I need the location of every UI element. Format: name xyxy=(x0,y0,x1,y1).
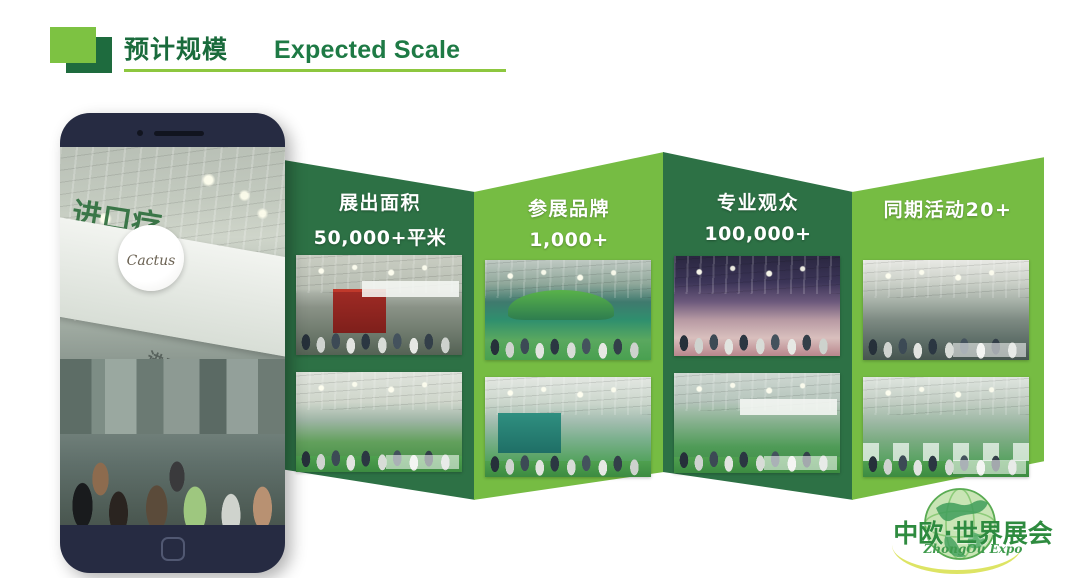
panel-professional-visitors: 专业观众 100,000+ xyxy=(663,100,853,530)
panel-exhibiting-brands: 参展品牌 1,000+ xyxy=(474,100,664,530)
panel-value: 50,000+平米 xyxy=(285,223,475,250)
panel-title: 参展品牌 xyxy=(474,194,664,221)
page-title-cn: 预计规模 xyxy=(124,30,228,66)
panel-photo xyxy=(296,372,462,472)
phone-sign-brand: Cactus xyxy=(118,253,184,269)
panel-heading: 参展品牌 1,000+ xyxy=(474,194,664,251)
smartphone-mockup: 进口疗 进口疗 康乐器 Cactus xyxy=(60,113,285,573)
panel-photo xyxy=(674,256,840,356)
panel-photo xyxy=(485,260,651,360)
panel-title: 展出面积 xyxy=(285,188,475,215)
panel-photo xyxy=(674,373,840,473)
logo-square-light xyxy=(50,27,96,63)
panel-exhibition-area: 展出面积 50,000+平米 xyxy=(285,100,475,530)
page-title-en: Expected Scale xyxy=(274,36,460,65)
panel-heading: 同期活动20+ xyxy=(852,195,1044,230)
front-camera-icon xyxy=(137,130,143,136)
title-underline xyxy=(124,69,506,72)
panel-photo xyxy=(296,255,462,355)
phone-sign-disc: Cactus xyxy=(118,225,184,291)
home-button-icon[interactable] xyxy=(161,537,185,561)
page-title: 预计规模 Expected Scale xyxy=(124,30,460,66)
brand-logo: 中欧·世界展会 ZhongOu Expo xyxy=(884,486,1062,574)
phone-screen: 进口疗 进口疗 康乐器 Cactus xyxy=(60,147,285,525)
panel-photo xyxy=(485,377,651,477)
panel-heading: 展出面积 50,000+平米 xyxy=(285,188,475,250)
panel-title: 专业观众 xyxy=(663,188,853,215)
panel-concurrent-events: 同期活动20+ xyxy=(852,100,1044,530)
page-header: 预计规模 Expected Scale xyxy=(0,0,1080,100)
panel-photo xyxy=(863,377,1029,477)
phone-screen-photo: 进口疗 进口疗 康乐器 Cactus xyxy=(60,147,285,525)
panel-heading: 专业观众 100,000+ xyxy=(663,188,853,245)
panel-photo xyxy=(863,260,1029,360)
panel-title: 同期活动20+ xyxy=(852,195,1044,222)
earpiece-speaker-icon xyxy=(154,131,204,136)
panel-value: 100,000+ xyxy=(663,223,853,245)
two-squares-logo-icon xyxy=(50,27,112,73)
brand-name-en: ZhongOu Expo xyxy=(884,542,1062,556)
panel-value: 1,000+ xyxy=(474,229,664,251)
